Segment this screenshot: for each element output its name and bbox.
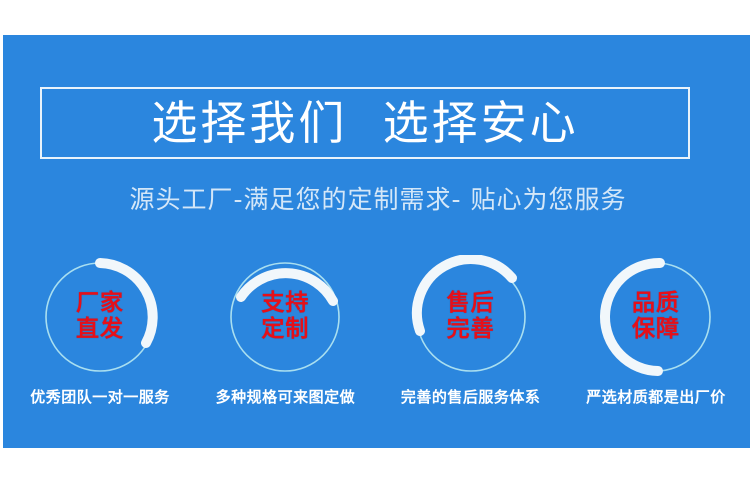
feature-title-2-line1: 支持 [261, 291, 309, 317]
feature-list: 厂家 直发 优秀团队一对一服务 支持 定制 多种规格可来图定做 [3, 255, 750, 430]
feature-title-3-line2: 完善 [447, 317, 495, 343]
feature-title-2: 支持 定制 [223, 255, 347, 379]
page-title: 选择我们 选择安心 [151, 100, 578, 146]
progress-ring-3: 售后 完善 [409, 255, 533, 379]
feature-caption-1: 优秀团队一对一服务 [30, 388, 170, 406]
promo-banner: 选择我们 选择安心 源头工厂-满足您的定制需求- 贴心为您服务 厂家 直发 优秀… [3, 35, 750, 448]
feature-item-1: 厂家 直发 优秀团队一对一服务 [17, 255, 183, 430]
feature-title-1: 厂家 直发 [38, 255, 162, 379]
progress-ring-1: 厂家 直发 [38, 255, 162, 379]
feature-item-3: 售后 完善 完善的售后服务体系 [388, 255, 554, 430]
feature-title-4-line2: 保障 [632, 317, 680, 343]
feature-caption-4: 严选材质都是出厂价 [586, 388, 726, 406]
feature-title-2-line2: 定制 [261, 317, 309, 343]
progress-ring-2: 支持 定制 [223, 255, 347, 379]
feature-caption-3: 完善的售后服务体系 [401, 388, 541, 406]
feature-title-3-line1: 售后 [447, 291, 495, 317]
subtitle: 源头工厂-满足您的定制需求- 贴心为您服务 [3, 185, 750, 215]
progress-ring-4: 品质 保障 [594, 255, 718, 379]
feature-title-3: 售后 完善 [409, 255, 533, 379]
feature-item-2: 支持 定制 多种规格可来图定做 [202, 255, 368, 430]
feature-title-1-line1: 厂家 [76, 291, 124, 317]
feature-title-4: 品质 保障 [594, 255, 718, 379]
feature-item-4: 品质 保障 严选材质都是出厂价 [573, 255, 739, 430]
feature-title-1-line2: 直发 [76, 317, 124, 343]
title-box: 选择我们 选择安心 [40, 87, 690, 159]
feature-caption-2: 多种规格可来图定做 [216, 388, 356, 406]
feature-title-4-line1: 品质 [632, 291, 680, 317]
